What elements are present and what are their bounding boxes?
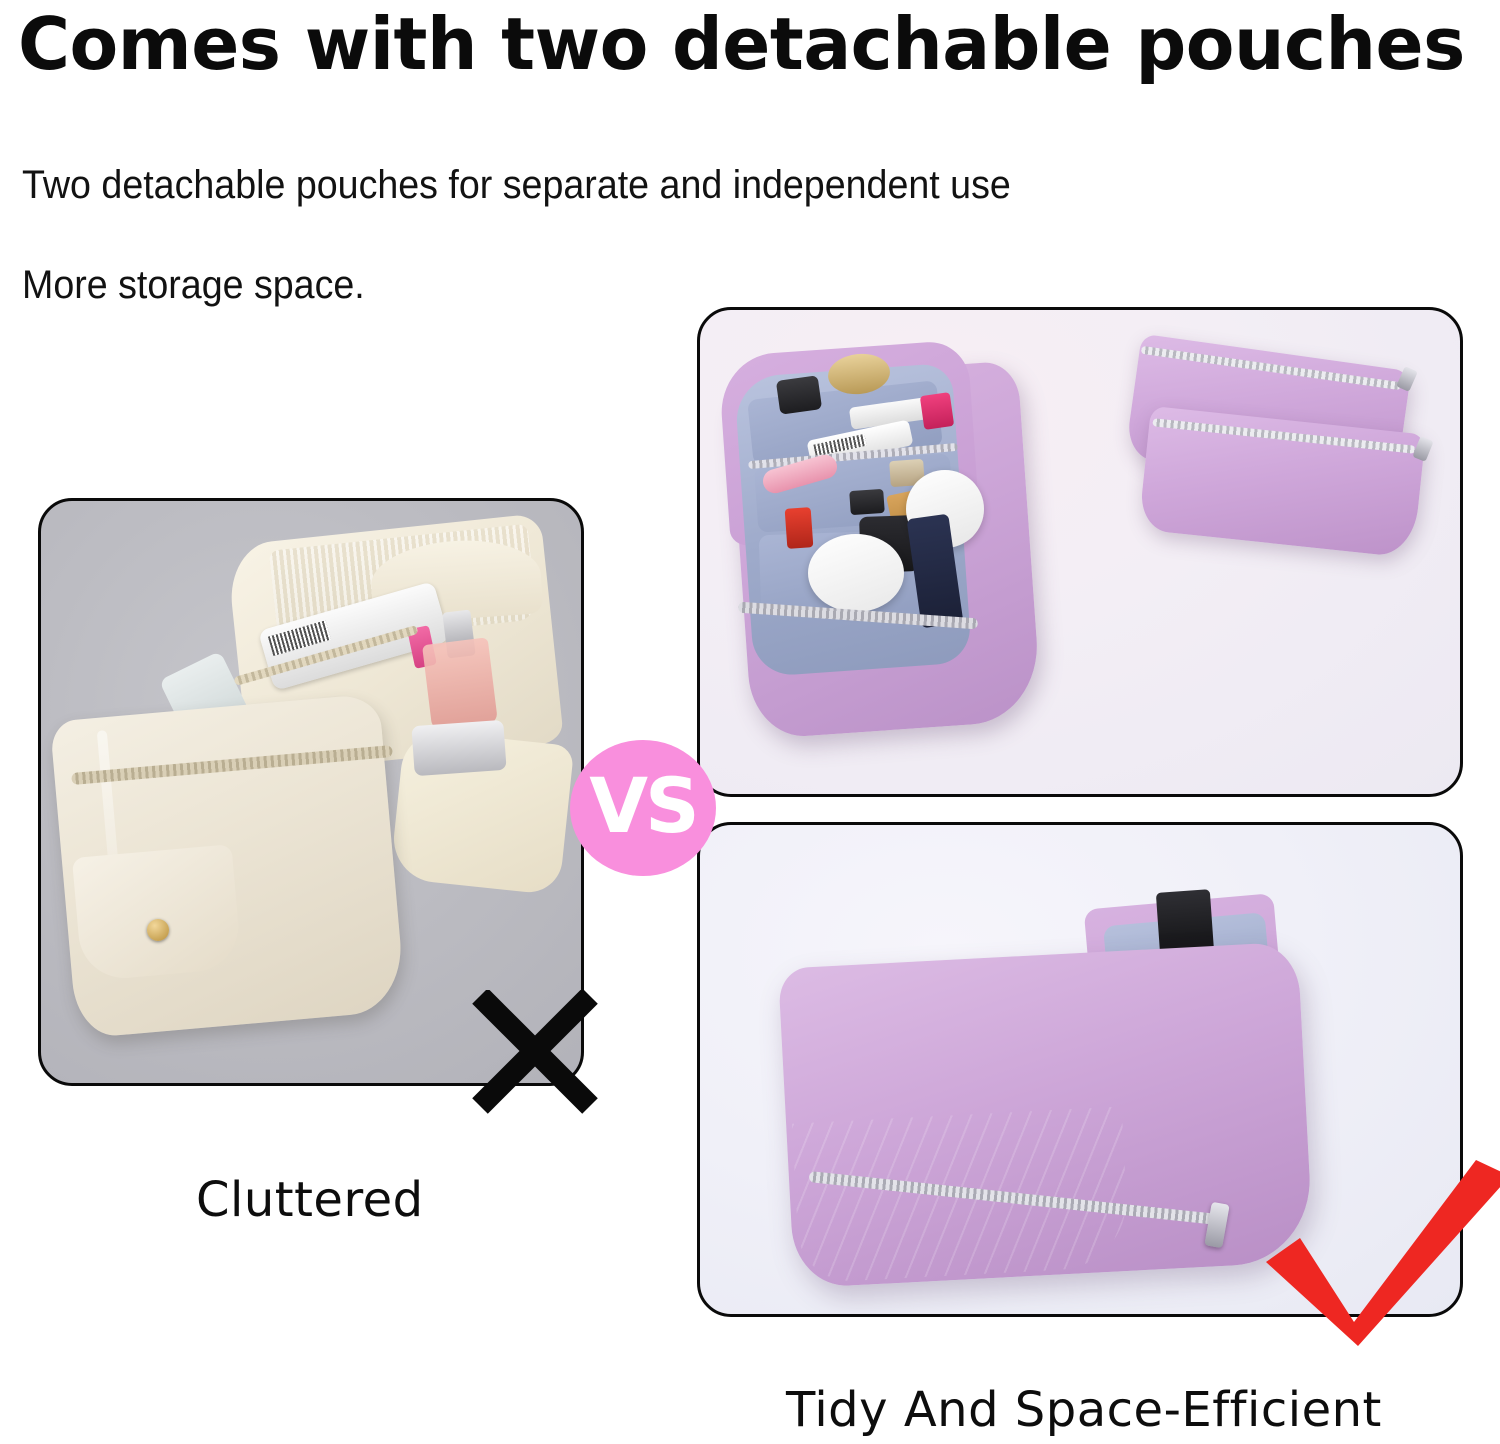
- cosmetic-black-compact: [776, 375, 822, 415]
- cosmetic-pink-lipstick: [920, 392, 954, 430]
- infographic-page: Comes with two detachable pouches Two de…: [0, 0, 1500, 1444]
- cosmetic-black-case: [849, 489, 885, 515]
- vs-badge: VS: [570, 740, 716, 876]
- caption-cluttered: Cluttered: [196, 1172, 424, 1228]
- check-mark-icon: [1262, 1150, 1500, 1350]
- cosmetic-silver-tube: [411, 720, 506, 776]
- cream-bag-snap-stud: [147, 919, 169, 941]
- caption-tidy: Tidy And Space-Efficient: [786, 1382, 1382, 1438]
- vs-badge-label: VS: [589, 768, 697, 844]
- cosmetic-white-oval-jar: [808, 534, 904, 612]
- subheading-line-1: Two detachable pouches for separate and …: [22, 163, 1011, 208]
- page-title: Comes with two detachable pouches: [18, 0, 1466, 90]
- cream-bag-front-flap: [72, 844, 242, 981]
- cosmetic-perfume-bottle: [422, 637, 498, 730]
- subheading-line-2: More storage space.: [22, 263, 365, 308]
- cosmetic-red-lipstick: [785, 507, 814, 549]
- detachable-pouches-photo: [700, 310, 1460, 794]
- x-mark-icon: [470, 990, 598, 1118]
- panel-pouches: [697, 307, 1463, 797]
